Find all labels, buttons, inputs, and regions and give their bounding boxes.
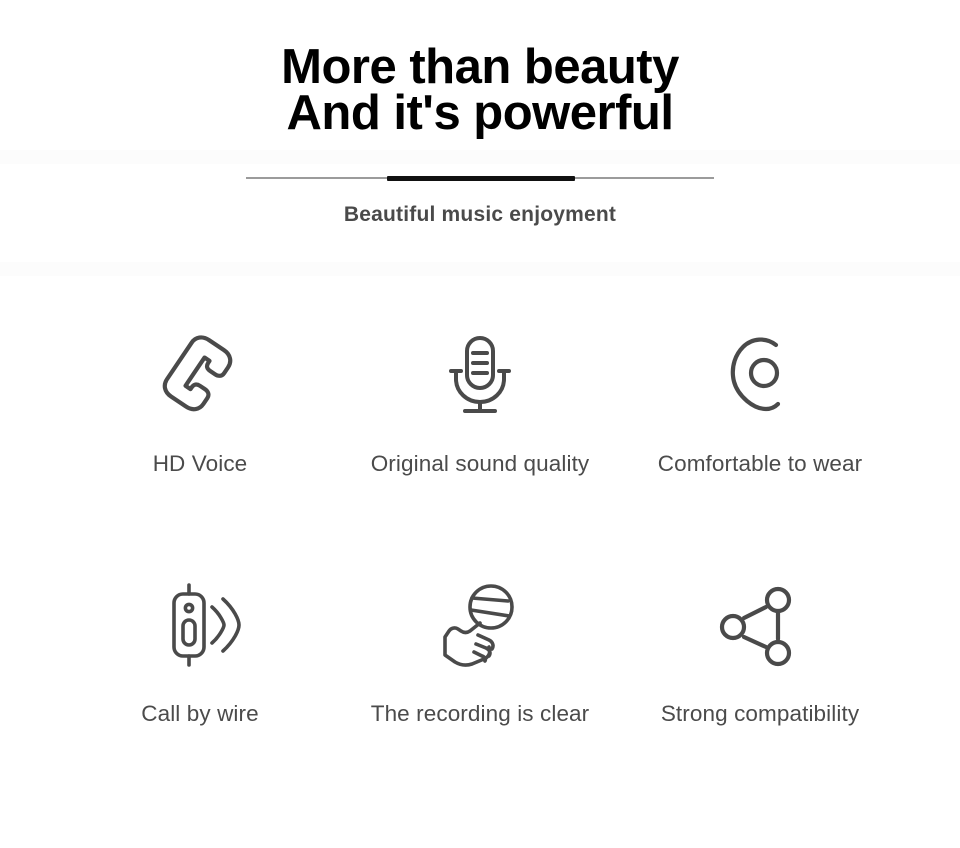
feature-item: HD Voice xyxy=(60,323,340,573)
ear-icon xyxy=(714,323,806,427)
page-subtitle: Beautiful music enjoyment xyxy=(0,203,960,227)
inline-remote-icon xyxy=(154,573,246,677)
microphone-icon xyxy=(434,323,526,427)
hand-holding-mic-icon xyxy=(434,573,526,677)
phone-handset-icon xyxy=(154,323,246,427)
feature-label: Comfortable to wear xyxy=(658,451,863,477)
divider xyxy=(0,172,960,184)
feature-label: Original sound quality xyxy=(371,451,590,477)
feature-item: Comfortable to wear xyxy=(620,323,900,573)
feature-item: The recording is clear xyxy=(340,573,620,823)
feature-label: HD Voice xyxy=(153,451,248,477)
product-feature-banner: More than beauty And it's powerful Beaut… xyxy=(0,0,960,848)
page-title: More than beauty And it's powerful xyxy=(0,44,960,136)
feature-label: Strong compatibility xyxy=(661,701,859,727)
background-artifact-lower xyxy=(0,262,960,276)
divider-accent-segment xyxy=(387,176,575,181)
divider-bar xyxy=(246,175,714,181)
feature-label: The recording is clear xyxy=(371,701,590,727)
feature-item: Call by wire xyxy=(60,573,340,823)
network-nodes-icon xyxy=(714,573,806,677)
hero-section: More than beauty And it's powerful Beaut… xyxy=(0,0,960,227)
feature-grid: HD Voice Original sound quality xyxy=(0,323,960,823)
feature-item: Original sound quality xyxy=(340,323,620,573)
feature-label: Call by wire xyxy=(141,701,258,727)
feature-item: Strong compatibility xyxy=(620,573,900,823)
